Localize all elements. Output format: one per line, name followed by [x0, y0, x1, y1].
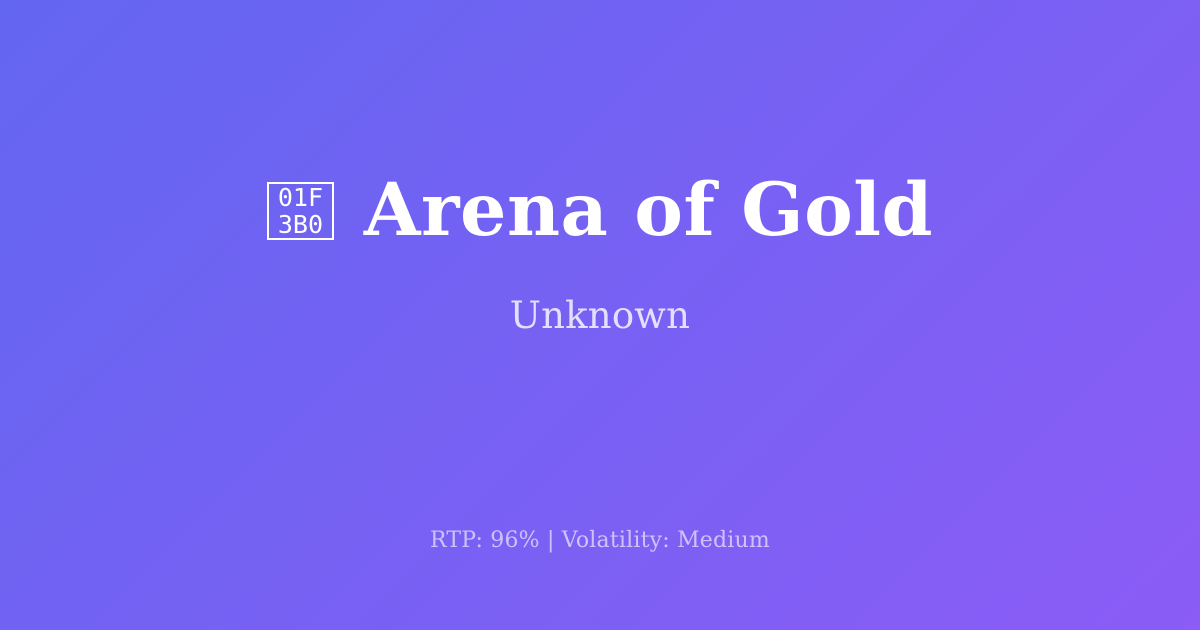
title-row: 01F 3B0 Arena of Gold	[267, 173, 933, 247]
game-stats-line: RTP: 96% | Volatility: Medium	[0, 528, 1200, 554]
tofu-hex-top: 01F	[278, 184, 323, 211]
og-preview-card: 01F 3B0 Arena of Gold Unknown RTP: 96% |…	[0, 0, 1200, 630]
tofu-hex-bottom: 3B0	[278, 211, 323, 238]
page-title: Arena of Gold	[364, 173, 933, 247]
page-subtitle: Unknown	[510, 296, 690, 337]
hero-block: 01F 3B0 Arena of Gold Unknown	[0, 0, 1200, 510]
slot-machine-emoji-tofu-icon: 01F 3B0	[267, 182, 334, 240]
